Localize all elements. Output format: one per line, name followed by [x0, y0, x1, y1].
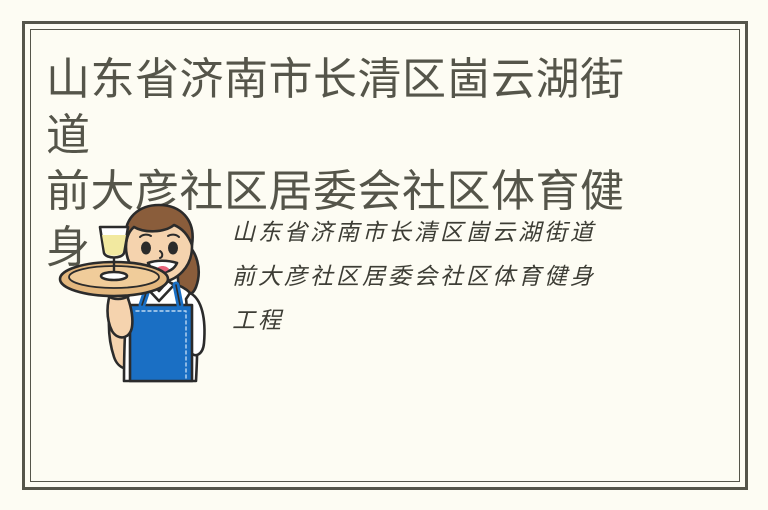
content-row: 山东省济南市长清区崮云湖街道 前大彦社区居委会社区体育健身 工程 — [46, 193, 686, 393]
right-eye-shape — [168, 242, 178, 255]
apron-shape — [130, 305, 192, 381]
glass-base-shape — [101, 272, 127, 280]
left-eye-shape — [141, 242, 151, 255]
waitress-with-tray-illustration — [56, 193, 216, 383]
glass-drink-shape — [102, 235, 126, 256]
body-description-text: 山东省济南市长清区崮云湖街道 前大彦社区居委会社区体育健身 工程 — [232, 211, 662, 343]
poster-page: 山东省济南市长清区崮云湖街道 前大彦社区居委会社区体育健身 — [0, 0, 768, 510]
